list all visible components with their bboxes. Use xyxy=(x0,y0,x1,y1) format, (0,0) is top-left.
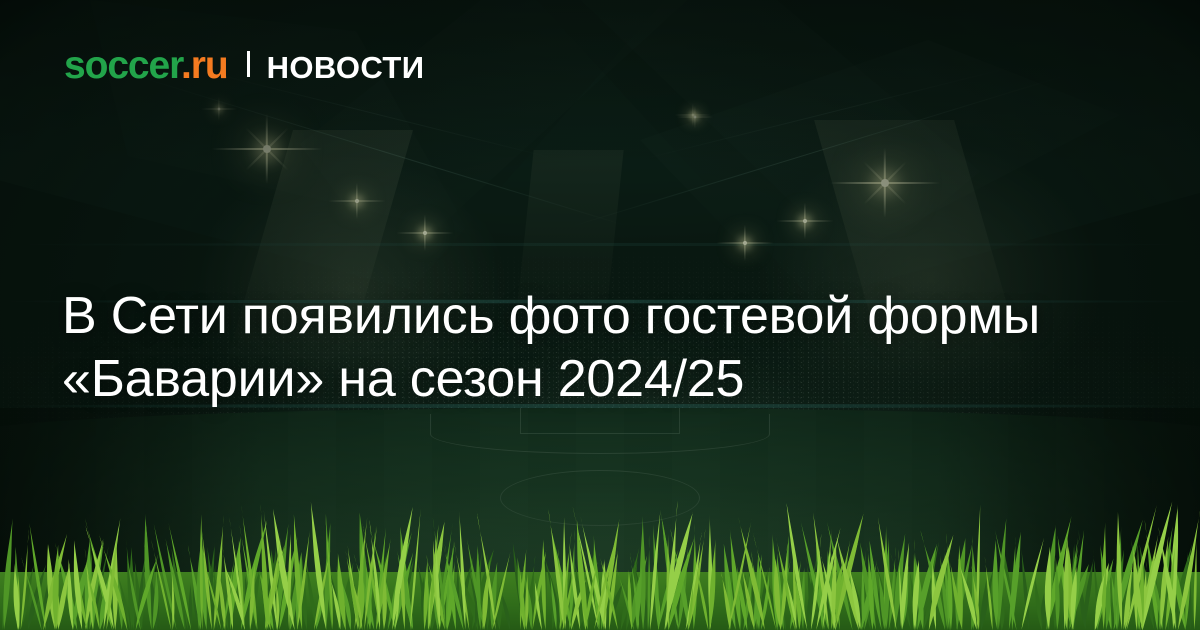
section-label-news: НОВОСТИ xyxy=(267,52,425,83)
site-logo[interactable]: soccer.ru xyxy=(64,46,228,85)
header-divider xyxy=(247,51,250,77)
logo-word-soccer: soccer xyxy=(64,44,181,87)
grass-foreground xyxy=(0,450,1200,630)
article-headline: В Сети появились фото гостевой формы «Ба… xyxy=(62,285,1142,411)
site-header: soccer.ru НОВОСТИ xyxy=(64,46,424,85)
logo-word-ru: .ru xyxy=(181,44,228,87)
news-share-card: soccer.ru НОВОСТИ В Сети появились фото … xyxy=(0,0,1200,630)
